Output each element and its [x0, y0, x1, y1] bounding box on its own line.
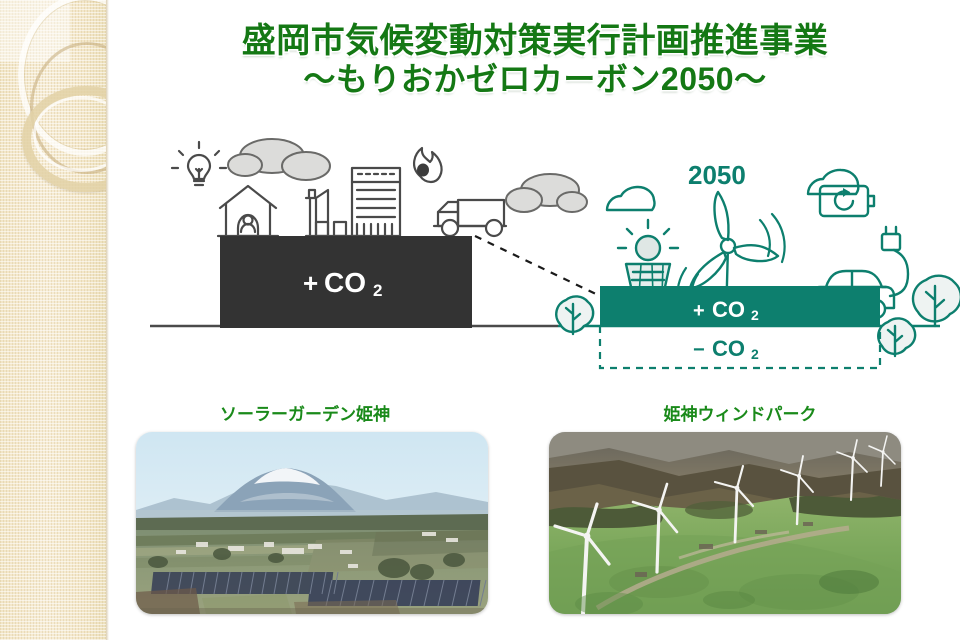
cloud-icon: [607, 187, 654, 210]
photo-caption-solar-garden: ソーラーガーデン姫神: [140, 400, 470, 425]
battery-recycle-icon: [820, 186, 874, 216]
present-co2-icons: [172, 139, 587, 236]
future-positive-sign: +: [693, 300, 705, 322]
lightbulb-icon: [172, 142, 226, 185]
future-negative-sign: −: [693, 339, 705, 361]
cloud-icon: [228, 139, 330, 180]
office-building-icon: [352, 168, 400, 236]
present-co2-sign: +: [303, 268, 318, 298]
future-negative-text: CO: [712, 336, 745, 361]
house-icon: [218, 186, 278, 236]
title-main-line: 盛岡市気候変動対策実行計画推進事業: [120, 22, 950, 60]
year-2050-label: 2050: [688, 160, 746, 190]
future-co2-icons: [556, 170, 960, 356]
tree-icon: [556, 296, 593, 334]
decorative-left-border: [0, 0, 106, 640]
flame-icon: [414, 148, 442, 182]
tree-icon: [913, 276, 960, 326]
factory-icon: [306, 190, 362, 236]
border-edge-shadow: [106, 0, 109, 640]
solar-garden-photo: [136, 432, 488, 614]
wind-park-photo: [549, 432, 901, 614]
tree-icon: [878, 318, 915, 356]
present-co2-subscript: 2: [373, 281, 382, 300]
truck-icon: [434, 200, 506, 236]
cloud-icon: [808, 170, 858, 194]
future-negative-co2-label: − CO 2: [693, 336, 759, 362]
present-co2-text: CO: [324, 267, 366, 298]
page-title: 盛岡市気候変動対策実行計画推進事業 〜もりおかゼロカーボン2050〜: [120, 22, 950, 98]
title-sub-line: 〜もりおかゼロカーボン2050〜: [120, 62, 950, 98]
future-negative-subscript: 2: [751, 346, 759, 362]
future-positive-text: CO: [712, 297, 745, 322]
carbon-neutral-infographic: + CO 2 2050: [120, 128, 960, 393]
photo-caption-wind-park: 姫神ウィンドパーク: [575, 400, 905, 425]
cloud-icon: [506, 174, 587, 212]
future-positive-subscript: 2: [751, 307, 759, 323]
